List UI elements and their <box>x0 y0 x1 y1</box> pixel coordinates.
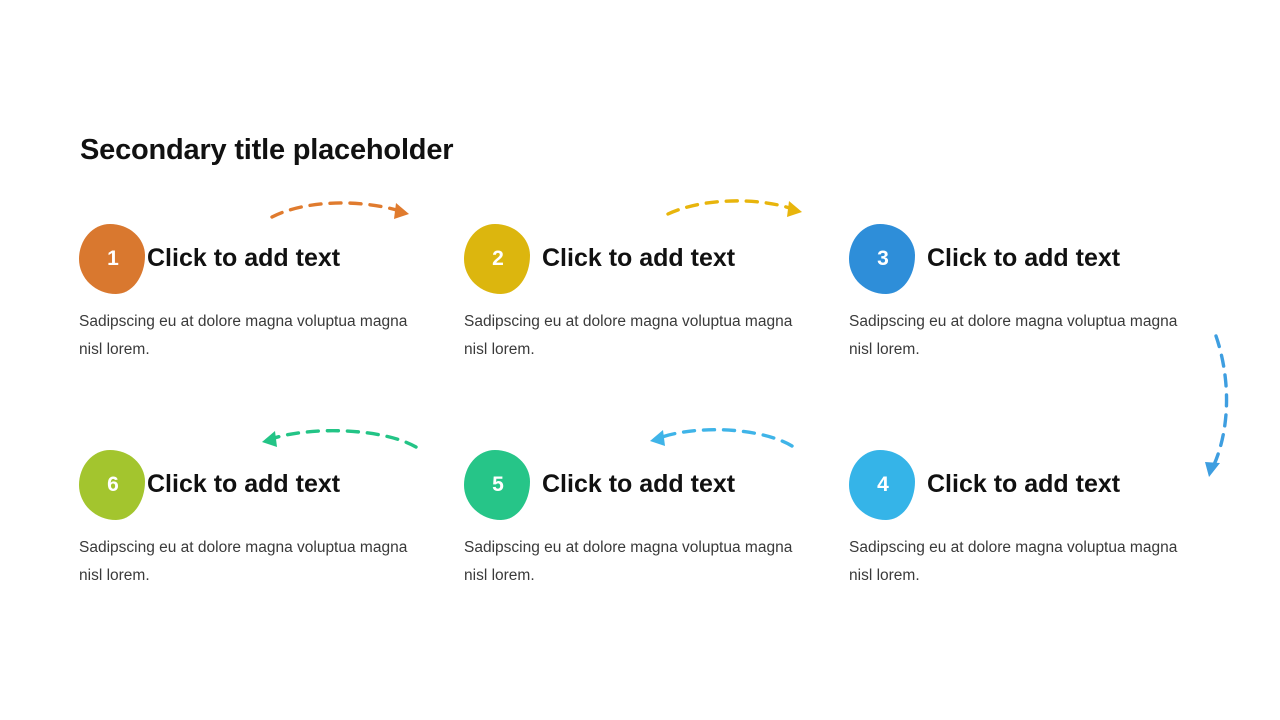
item-3-number: 3 <box>877 248 889 269</box>
item-4-title[interactable]: Click to add text <box>927 470 1120 499</box>
item-6-title[interactable]: Click to add text <box>147 470 340 499</box>
item-4-number-badge[interactable]: 4 <box>849 450 915 520</box>
slide-canvas: Secondary title placeholder <box>0 0 1280 720</box>
item-4[interactable]: 4 Click to add text Sadipscing eu at dol… <box>849 450 1239 526</box>
item-5-number-badge[interactable]: 5 <box>464 450 530 520</box>
item-3-title[interactable]: Click to add text <box>927 244 1120 273</box>
item-2[interactable]: 2 Click to add text Sadipscing eu at dol… <box>464 224 854 300</box>
item-1-title[interactable]: Click to add text <box>147 244 340 273</box>
item-4-header: 4 Click to add text <box>849 450 1239 526</box>
item-2-header: 2 Click to add text <box>464 224 854 300</box>
item-4-number: 4 <box>877 474 889 495</box>
arrow-4-to-5 <box>650 430 792 446</box>
item-2-number-badge[interactable]: 2 <box>464 224 530 294</box>
page-title: Secondary title placeholder <box>80 134 453 167</box>
item-5-number: 5 <box>492 474 504 495</box>
item-6-header: 6 Click to add text <box>79 450 469 526</box>
item-2-body[interactable]: Sadipscing eu at dolore magna voluptua m… <box>464 308 809 363</box>
item-1-number-badge[interactable]: 1 <box>79 224 145 294</box>
item-3-number-badge[interactable]: 3 <box>849 224 915 294</box>
item-6-number: 6 <box>107 474 119 495</box>
item-5-header: 5 Click to add text <box>464 450 854 526</box>
item-6-body[interactable]: Sadipscing eu at dolore magna voluptua m… <box>79 534 424 589</box>
item-1[interactable]: 1 Click to add text Sadipscing eu at dol… <box>79 224 469 300</box>
item-2-title[interactable]: Click to add text <box>542 244 735 273</box>
item-5[interactable]: 5 Click to add text Sadipscing eu at dol… <box>464 450 854 526</box>
item-1-header: 1 Click to add text <box>79 224 469 300</box>
arrow-1-to-2 <box>272 203 409 219</box>
item-6[interactable]: 6 Click to add text Sadipscing eu at dol… <box>79 450 469 526</box>
item-1-number: 1 <box>107 248 119 269</box>
item-5-title[interactable]: Click to add text <box>542 470 735 499</box>
item-3-header: 3 Click to add text <box>849 224 1239 300</box>
item-4-body[interactable]: Sadipscing eu at dolore magna voluptua m… <box>849 534 1194 589</box>
item-6-number-badge[interactable]: 6 <box>79 450 145 520</box>
item-3-body[interactable]: Sadipscing eu at dolore magna voluptua m… <box>849 308 1194 363</box>
item-2-number: 2 <box>492 248 504 269</box>
arrow-5-to-6 <box>262 431 416 447</box>
item-3[interactable]: 3 Click to add text Sadipscing eu at dol… <box>849 224 1239 300</box>
arrow-2-to-3 <box>668 201 802 217</box>
item-1-body[interactable]: Sadipscing eu at dolore magna voluptua m… <box>79 308 424 363</box>
item-5-body[interactable]: Sadipscing eu at dolore magna voluptua m… <box>464 534 809 589</box>
